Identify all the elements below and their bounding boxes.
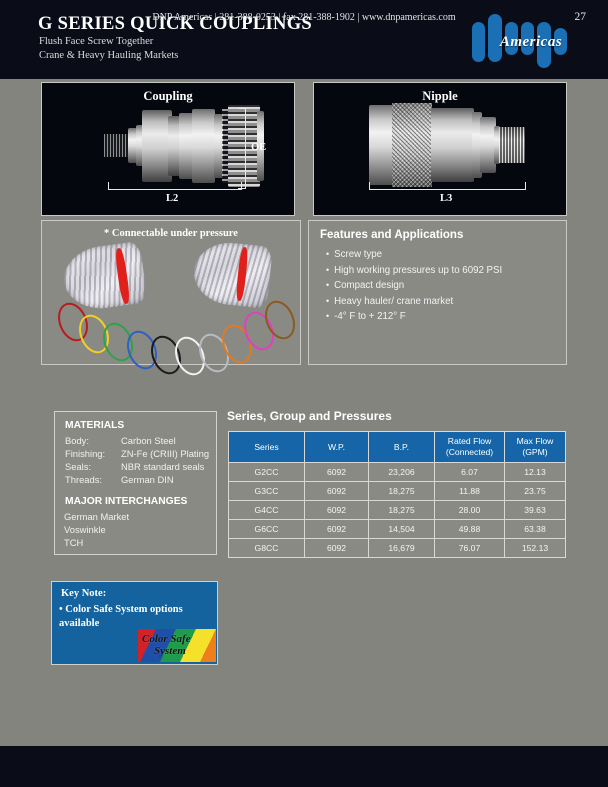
connectable-panel-title: * Connectable under pressure — [42, 228, 300, 239]
cell-rated-flow: 28.00 — [435, 501, 505, 520]
materials-key: Seals: — [65, 461, 91, 472]
nipple-panel-title: Nipple — [314, 89, 566, 104]
color-safe-system-logo: Color Safe System — [138, 629, 216, 662]
materials-value: NBR standard seals — [121, 461, 204, 472]
table-header-bp: B.P. — [369, 432, 435, 463]
coupler-half-right-image — [191, 239, 273, 309]
footer-contact-text: DNP Americas | 281-388-0253 | fax 281-38… — [0, 12, 608, 23]
materials-value: German DIN — [121, 474, 174, 485]
cell-wp: 6092 — [305, 463, 369, 482]
table-header-series: Series — [229, 432, 305, 463]
features-panel: Features and Applications Screw type Hig… — [308, 220, 567, 365]
materials-value: Carbon Steel — [121, 435, 176, 446]
cell-rated-flow: 76.07 — [435, 539, 505, 558]
features-item: Heavy hauler/ crane market — [326, 294, 502, 310]
key-note-body: • Color Safe System options available — [59, 603, 217, 630]
materials-key: Threads: — [65, 474, 102, 485]
cell-max-flow: 152.13 — [505, 539, 566, 558]
footer-page-number: 27 — [575, 11, 587, 23]
connectable-under-pressure-panel: * Connectable under pressure — [41, 220, 301, 365]
interchange-item: TCH — [64, 537, 83, 548]
table-row: G2CC 6092 23,206 6.07 12.13 — [229, 463, 566, 482]
cell-wp: 6092 — [305, 501, 369, 520]
features-item: Compact design — [326, 278, 502, 294]
cell-series: G2CC — [229, 463, 305, 482]
features-item: High working pressures up to 6092 PSI — [326, 263, 502, 279]
table-header-row: Series W.P. B.P. Rated Flow (Connected) … — [229, 432, 566, 463]
cell-rated-flow: 49.88 — [435, 520, 505, 539]
l3-dimension-label: L3 — [440, 193, 452, 204]
cell-max-flow: 63.38 — [505, 520, 566, 539]
l2-dimension-label: L2 — [166, 193, 178, 204]
coupling-panel: Coupling OE L2 — [41, 82, 295, 216]
table-header-wp: W.P. — [305, 432, 369, 463]
oe-dimension-line — [245, 108, 246, 188]
cell-series: G4CC — [229, 501, 305, 520]
cell-wp: 6092 — [305, 520, 369, 539]
materials-heading: MATERIALS — [65, 420, 124, 431]
cell-max-flow: 23.75 — [505, 482, 566, 501]
table-header-rated-flow: Rated Flow (Connected) — [435, 432, 505, 463]
color-safe-line-1: Color Safe — [142, 633, 191, 645]
key-note-box: Key Note: • Color Safe System options av… — [51, 581, 218, 665]
cell-series: G8CC — [229, 539, 305, 558]
table-title: Series, Group and Pressures — [227, 409, 392, 423]
color-safe-text: Color Safe System — [142, 633, 191, 657]
features-list: Screw type High working pressures up to … — [326, 247, 502, 325]
cell-bp: 16,679 — [369, 539, 435, 558]
cell-rated-flow: 6.07 — [435, 463, 505, 482]
page-subtitle-2: Crane & Heavy Hauling Markets — [39, 50, 178, 61]
materials-box: MATERIALS Body: Carbon Steel Finishing: … — [54, 411, 217, 555]
cell-max-flow: 12.13 — [505, 463, 566, 482]
l2-dimension-line — [108, 189, 242, 190]
cell-bp: 18,275 — [369, 482, 435, 501]
table-row: G3CC 6092 18,275 11.88 23.75 — [229, 482, 566, 501]
cell-bp: 14,504 — [369, 520, 435, 539]
cell-max-flow: 39.63 — [505, 501, 566, 520]
color-safe-line-2: System — [154, 645, 191, 657]
materials-key: Finishing: — [65, 448, 105, 459]
table-header-max-flow: Max Flow (GPM) — [505, 432, 566, 463]
interchange-item: German Market — [64, 511, 129, 522]
coupling-panel-title: Coupling — [42, 89, 294, 104]
interchange-item: Voswinkle — [64, 524, 106, 535]
cell-bp: 18,275 — [369, 501, 435, 520]
cell-bp: 23,206 — [369, 463, 435, 482]
table-row: G4CC 6092 18,275 28.00 39.63 — [229, 501, 566, 520]
features-heading: Features and Applications — [320, 229, 463, 241]
nipple-panel: Nipple L3 — [313, 82, 567, 216]
cell-rated-flow: 11.88 — [435, 482, 505, 501]
oe-dimension-label: OE — [251, 142, 266, 153]
cell-series: G3CC — [229, 482, 305, 501]
materials-value: ZN-Fe (CRIII) Plating — [121, 448, 209, 459]
key-note-heading: Key Note: — [61, 588, 106, 599]
page-subtitle-1: Flush Face Screw Together — [39, 36, 153, 47]
l3-dimension-line — [369, 189, 526, 190]
interchanges-heading: MAJOR INTERCHANGES — [65, 496, 187, 507]
logo-script-text: Americas — [476, 34, 586, 51]
cell-wp: 6092 — [305, 539, 369, 558]
features-item: Screw type — [326, 247, 502, 263]
cell-series: G6CC — [229, 520, 305, 539]
table-row: G6CC 6092 14,504 49.88 63.38 — [229, 520, 566, 539]
materials-key: Body: — [65, 435, 89, 446]
series-pressures-table: Series W.P. B.P. Rated Flow (Connected) … — [228, 431, 566, 558]
cell-wp: 6092 — [305, 482, 369, 501]
features-item: -4° F to + 212° F — [326, 309, 502, 325]
footer-band — [0, 746, 608, 787]
table-row: G8CC 6092 16,679 76.07 152.13 — [229, 539, 566, 558]
